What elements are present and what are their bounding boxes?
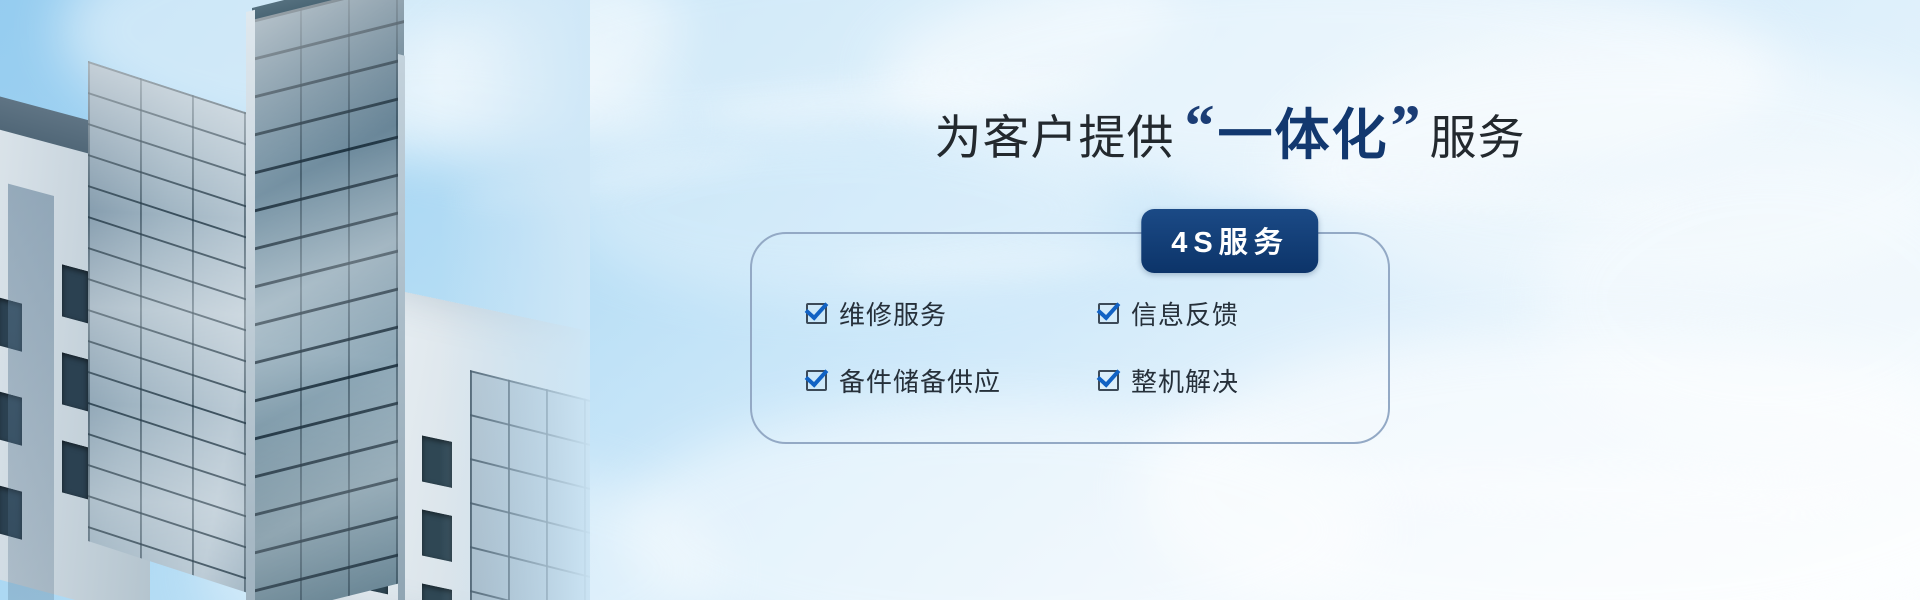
quote-close-mark: ”: [1391, 108, 1422, 145]
headline-highlight: 一体化: [1217, 105, 1388, 166]
checkbox-checked-icon: [806, 370, 827, 391]
feature-label: 备件储备供应: [839, 362, 1001, 399]
feature-label: 维修服务: [839, 295, 947, 332]
building-tower-corner-edge-2: [398, 54, 405, 600]
headline: 为客户提供“一体化”服务: [730, 108, 1730, 163]
checkbox-checked-icon: [806, 303, 827, 324]
service-banner: 为客户提供“一体化”服务 4S服务 维修服务 信息反馈 备件储备供应 整机解决: [0, 0, 1920, 600]
feature-label: 信息反馈: [1131, 295, 1239, 332]
headline-suffix: 服务: [1430, 113, 1526, 165]
banner-content: 为客户提供“一体化”服务 4S服务 维修服务 信息反馈 备件储备供应 整机解决: [730, 0, 1730, 600]
building-glass-annex: [470, 370, 590, 600]
feature-label: 整机解决: [1131, 362, 1239, 399]
office-building-photo: [0, 0, 590, 600]
building-left-stripe: [8, 184, 54, 600]
feature-item: 备件储备供应: [806, 347, 1098, 414]
feature-item: 信息反馈: [1098, 280, 1390, 347]
checkbox-checked-icon: [1098, 370, 1119, 391]
building-tower-face-right: [252, 0, 404, 600]
quote-open-mark: “: [1184, 108, 1215, 145]
headline-prefix: 为客户提供: [934, 113, 1174, 165]
feature-item: 整机解决: [1098, 347, 1390, 414]
checkbox-checked-icon: [1098, 303, 1119, 324]
service-badge: 4S服务: [1141, 209, 1318, 273]
building-tower-corner-edge: [246, 10, 255, 600]
feature-item: 维修服务: [806, 280, 1098, 347]
